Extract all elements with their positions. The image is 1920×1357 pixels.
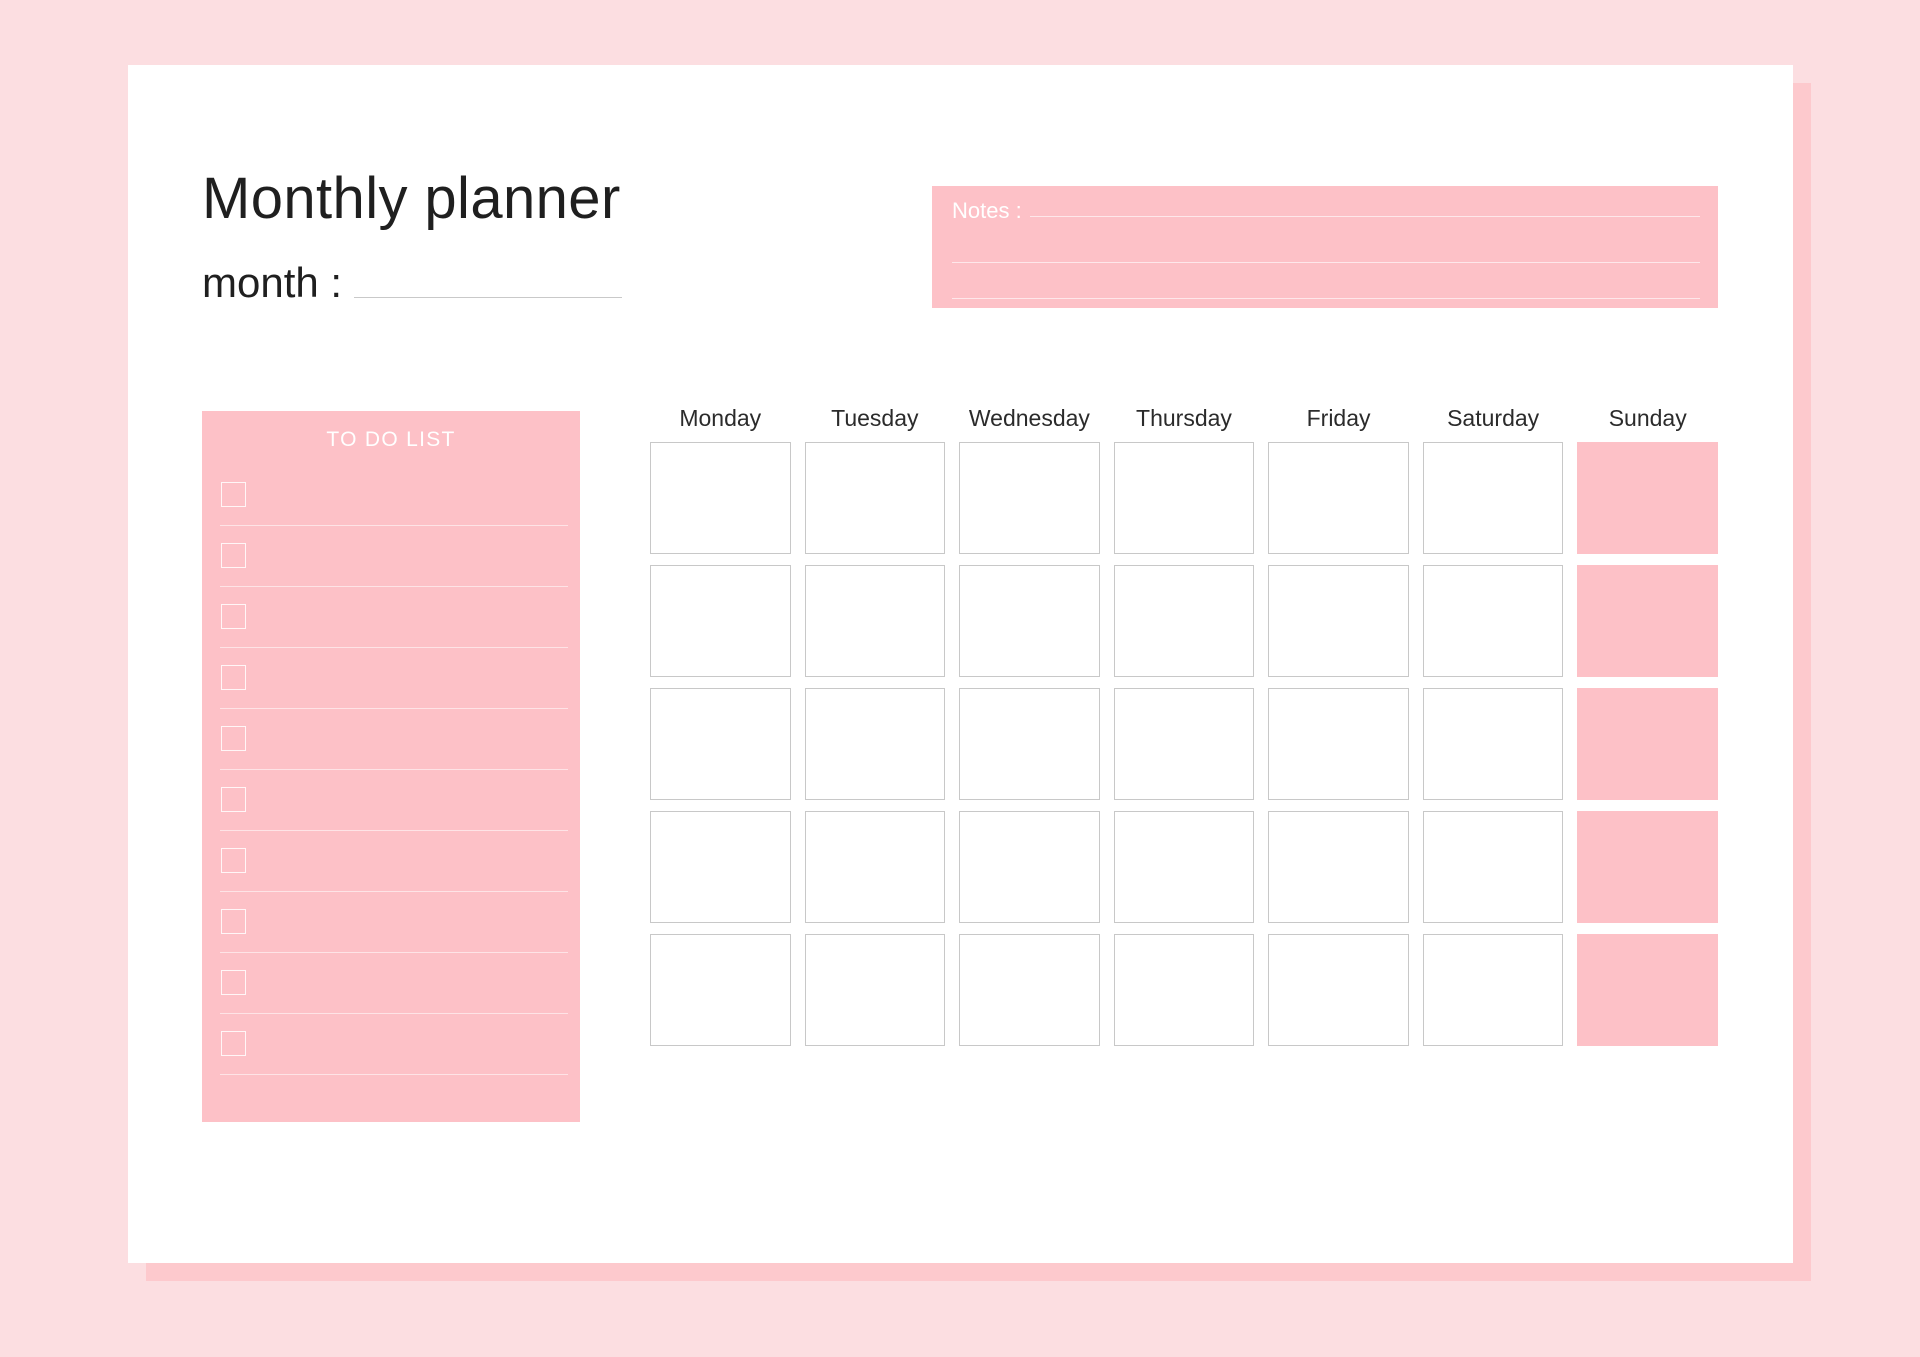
header-block: Monthly planner month : [202,170,622,304]
todo-item-write-line[interactable] [220,769,568,770]
calendar-grid [650,442,1718,1046]
month-label: month : [202,262,342,304]
todo-item-write-line[interactable] [220,708,568,709]
calendar: MondayTuesdayWednesdayThursdayFridaySatu… [650,405,1718,1046]
calendar-day-cell[interactable] [805,442,946,554]
todo-item[interactable] [202,900,580,961]
notes-write-line-2[interactable] [952,262,1700,263]
calendar-day-cell[interactable] [959,811,1100,923]
todo-item[interactable] [202,961,580,1022]
calendar-day-cell[interactable] [805,934,946,1046]
calendar-day-cell[interactable] [1268,934,1409,1046]
checkbox-icon[interactable] [221,909,246,934]
planner-page: Monthly planner month : Notes : TO DO LI… [0,0,1920,1357]
notes-label: Notes : [952,199,1022,223]
page-title: Monthly planner [202,170,622,228]
calendar-day-cell[interactable] [1423,934,1564,1046]
notes-first-line: Notes : [952,199,1700,223]
checkbox-icon[interactable] [221,970,246,995]
month-row: month : [202,262,622,304]
calendar-weekday-friday: Friday [1268,405,1409,432]
calendar-day-cell[interactable] [1114,688,1255,800]
calendar-day-cell[interactable] [805,688,946,800]
calendar-day-cell[interactable] [1268,442,1409,554]
month-input-blank[interactable] [354,297,622,298]
checkbox-icon[interactable] [221,848,246,873]
calendar-day-cell[interactable] [650,934,791,1046]
calendar-day-cell[interactable] [650,442,791,554]
todo-item-write-line[interactable] [220,1074,568,1075]
checkbox-icon[interactable] [221,543,246,568]
calendar-day-cell[interactable] [1114,565,1255,677]
calendar-day-cell[interactable] [1577,565,1718,677]
notes-write-line-3[interactable] [952,298,1700,299]
todo-item-write-line[interactable] [220,647,568,648]
calendar-day-cell[interactable] [959,442,1100,554]
checkbox-icon[interactable] [221,787,246,812]
todo-item[interactable] [202,1022,580,1083]
todo-item-write-line[interactable] [220,525,568,526]
todo-item-write-line[interactable] [220,952,568,953]
todo-list-box: TO DO LIST [202,411,580,1122]
todo-item[interactable] [202,595,580,656]
calendar-weekday-wednesday: Wednesday [959,405,1100,432]
calendar-day-cell[interactable] [805,811,946,923]
checkbox-icon[interactable] [221,604,246,629]
checkbox-icon[interactable] [221,726,246,751]
todo-item[interactable] [202,778,580,839]
calendar-day-cell[interactable] [1268,688,1409,800]
calendar-day-cell[interactable] [1577,934,1718,1046]
todo-item[interactable] [202,839,580,900]
todo-list-title: TO DO LIST [202,428,580,452]
calendar-day-cell[interactable] [1423,811,1564,923]
calendar-day-cell[interactable] [959,688,1100,800]
calendar-day-cell[interactable] [1577,688,1718,800]
todo-item[interactable] [202,473,580,534]
todo-item[interactable] [202,534,580,595]
calendar-weekday-monday: Monday [650,405,791,432]
todo-items [202,473,580,1083]
calendar-day-cell[interactable] [1114,934,1255,1046]
calendar-day-cell[interactable] [959,565,1100,677]
calendar-weekday-header: MondayTuesdayWednesdayThursdayFridaySatu… [650,405,1718,432]
calendar-day-cell[interactable] [959,934,1100,1046]
todo-item-write-line[interactable] [220,891,568,892]
todo-item-write-line[interactable] [220,586,568,587]
checkbox-icon[interactable] [221,1031,246,1056]
calendar-weekday-tuesday: Tuesday [805,405,946,432]
calendar-day-cell[interactable] [1268,811,1409,923]
todo-item[interactable] [202,656,580,717]
calendar-day-cell[interactable] [650,688,791,800]
calendar-weekday-saturday: Saturday [1423,405,1564,432]
calendar-day-cell[interactable] [1577,811,1718,923]
todo-item[interactable] [202,717,580,778]
calendar-day-cell[interactable] [650,565,791,677]
calendar-day-cell[interactable] [1577,442,1718,554]
calendar-weekday-thursday: Thursday [1114,405,1255,432]
notes-box[interactable]: Notes : [932,186,1718,308]
checkbox-icon[interactable] [221,482,246,507]
calendar-day-cell[interactable] [1268,565,1409,677]
calendar-weekday-sunday: Sunday [1577,405,1718,432]
todo-item-write-line[interactable] [220,1013,568,1014]
notes-write-line-1[interactable] [1030,216,1700,217]
calendar-day-cell[interactable] [1423,442,1564,554]
calendar-day-cell[interactable] [805,565,946,677]
calendar-day-cell[interactable] [1423,565,1564,677]
calendar-day-cell[interactable] [1114,811,1255,923]
todo-item-write-line[interactable] [220,830,568,831]
calendar-day-cell[interactable] [1423,688,1564,800]
checkbox-icon[interactable] [221,665,246,690]
calendar-day-cell[interactable] [1114,442,1255,554]
calendar-day-cell[interactable] [650,811,791,923]
